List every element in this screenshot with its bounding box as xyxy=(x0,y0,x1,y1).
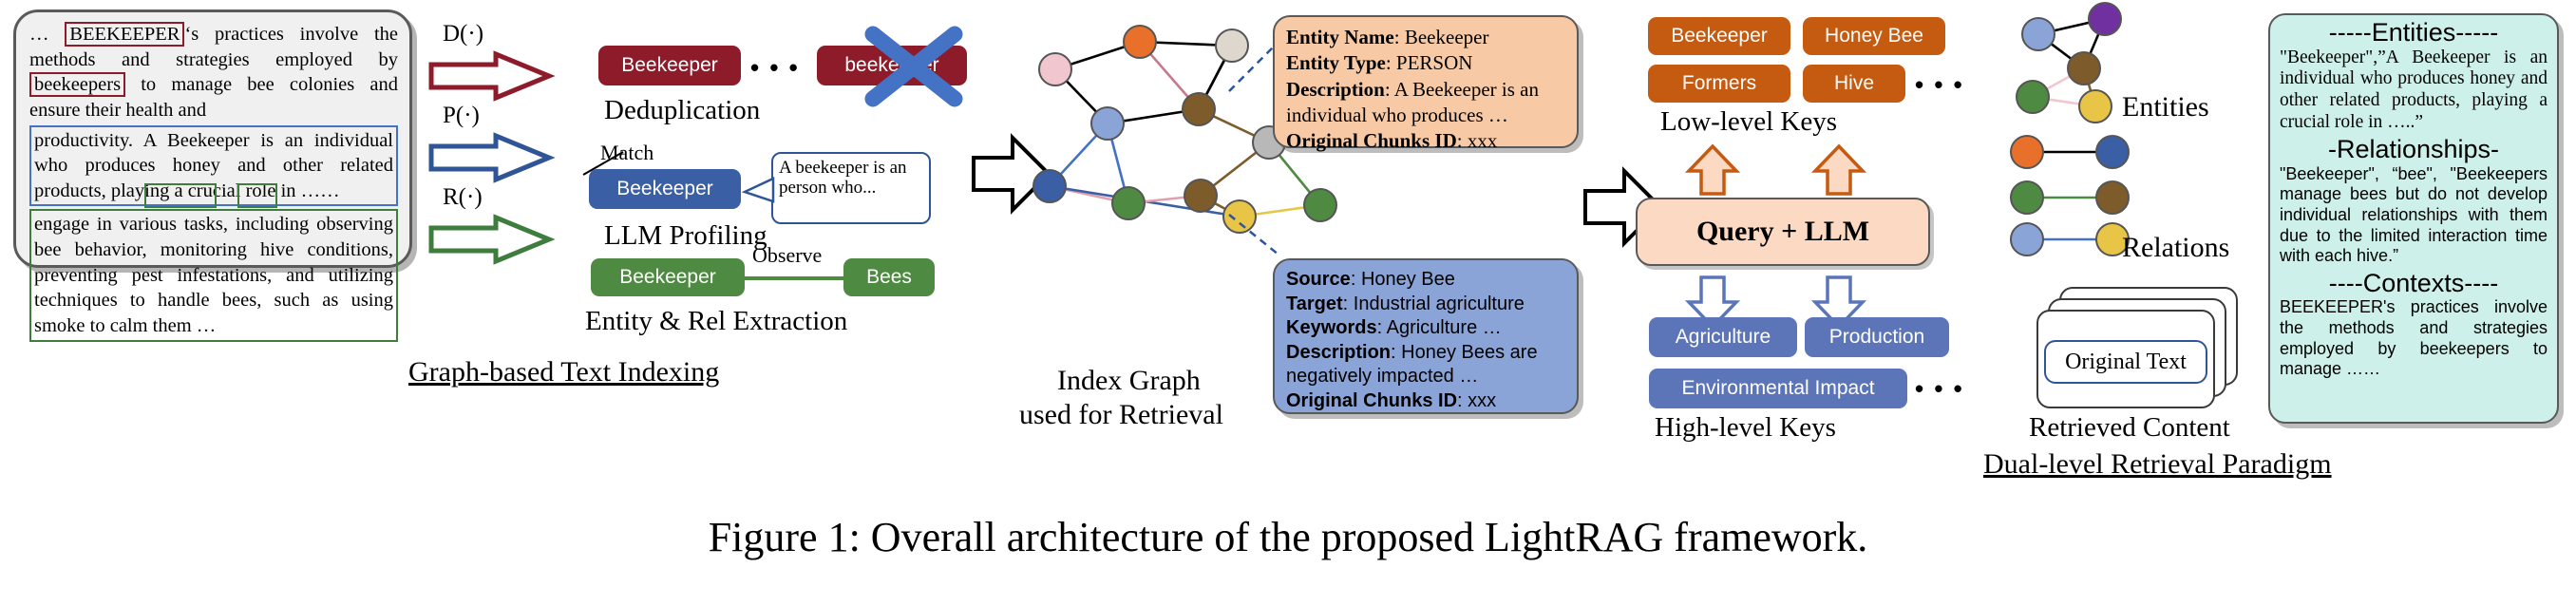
source-line-3-rest: to manage bee xyxy=(125,74,275,95)
index-graph-label-line2: used for Retrieval xyxy=(1019,399,1223,431)
entities-label: Entities xyxy=(2122,91,2209,123)
entities-section-body: "Beekeeper",”A Beekeeper is an individua… xyxy=(2280,47,2548,133)
relation-row-target: Target: Industrial agriculture xyxy=(1286,293,1565,317)
ellipsis-prefix: … xyxy=(29,24,65,45)
high-level-key-agriculture[interactable]: Agriculture xyxy=(1649,317,1797,357)
contexts-section-header: ----Contexts---- xyxy=(2280,270,2548,298)
llm-profiling-label: LLM Profiling xyxy=(604,220,767,252)
original-text-chip[interactable]: Original Text xyxy=(2044,340,2207,384)
graph-based-text-indexing-label: Graph-based Text Indexing xyxy=(408,356,719,388)
entity-name-key: Entity Name xyxy=(1286,26,1394,48)
low-level-key-formers[interactable]: Formers xyxy=(1648,65,1790,103)
relation-edge-icon xyxy=(745,274,843,283)
entity-name-value: Beekeeper xyxy=(1405,26,1489,48)
extraction-arrow-icon xyxy=(429,216,553,263)
generation-result-card: -----Entities----- "Beekeeper",”A Beekee… xyxy=(2268,13,2559,424)
relation-keywords-value: Agriculture … xyxy=(1387,317,1502,338)
relation-chunkid-value: xxx xyxy=(1468,390,1496,411)
low-level-key-hive[interactable]: Hive xyxy=(1803,65,1905,103)
low-level-up-arrow-icon-2 xyxy=(1812,144,1866,196)
dedup-arrow-icon xyxy=(429,52,553,100)
dedup-ellipsis: • • • xyxy=(750,53,800,83)
relation-row-chunkid: Original Chunks ID: xxx xyxy=(1286,389,1565,414)
profile-callout: A beekeeper is an person who... xyxy=(771,152,931,224)
highlight-beekeepers: beekeepers xyxy=(29,72,125,97)
highlight-observing-word xyxy=(144,183,217,208)
lightrag-architecture-figure: … BEEKEEPER‘s practices involve the meth… xyxy=(0,0,2576,606)
high-level-keys-label: High-level Keys xyxy=(1655,412,1836,444)
green-block-text: engage in various tasks, including obser… xyxy=(34,214,393,336)
entity-row-name: Entity Name: Beekeeper xyxy=(1286,25,1565,50)
highlight-beekeeper-caps: BEEKEEPER xyxy=(65,22,184,47)
low-level-keys-label: Low-level Keys xyxy=(1660,106,1837,138)
profiling-arrow-icon xyxy=(429,134,553,181)
profiling-pill: Beekeeper xyxy=(589,169,741,209)
entities-section-header: -----Entities----- xyxy=(2280,19,2548,47)
entity-schema-card: Entity Name: Beekeeper Entity Type: PERS… xyxy=(1273,15,1579,148)
relation-target-value: Industrial agriculture xyxy=(1354,294,1525,314)
low-level-key-honey-bee[interactable]: Honey Bee xyxy=(1803,17,1945,55)
retrieved-content-label: Retrieved Content xyxy=(2029,412,2230,444)
highlight-bee-word xyxy=(237,183,277,208)
dedup-function-label: D(·) xyxy=(443,21,483,47)
source-line-1-rest: ‘s practices involve xyxy=(184,24,358,45)
relationships-section-body: "Beekeeper", “bee", "Beekeepers manage b… xyxy=(2280,164,2548,267)
entity-chunkid-value: xxx xyxy=(1468,129,1498,152)
relation-schema-card: Source: Honey Bee Target: Industrial agr… xyxy=(1273,258,1579,414)
entity-type-value: PERSON xyxy=(1396,51,1473,74)
relation-source-key: Source xyxy=(1286,269,1351,290)
source-line-3-pre: by xyxy=(379,49,399,70)
relation-source-value: Honey Bee xyxy=(1361,269,1455,290)
relation-target-key: Target xyxy=(1286,294,1343,314)
relations-label: Relations xyxy=(2122,232,2229,264)
relation-keywords-key: Keywords xyxy=(1286,317,1377,338)
index-graph-label-line1: Index Graph xyxy=(1057,365,1201,397)
entity-row-description: Description: A Beekeeper is an individua… xyxy=(1286,77,1565,129)
low-level-keys-ellipsis: • • • xyxy=(1915,70,1964,100)
relation-chunkid-key: Original Chunks ID xyxy=(1286,390,1457,411)
highlight-green-relation-block: engage in various tasks, including obser… xyxy=(29,209,398,341)
high-level-key-production[interactable]: Production xyxy=(1805,317,1949,357)
profiling-function-label: P(·) xyxy=(443,103,480,129)
entity-chunkid-key: Original Chunks ID xyxy=(1286,129,1457,152)
cross-out-icon xyxy=(860,23,969,110)
callout-tail-icon xyxy=(743,177,777,205)
relation-description-key: Description xyxy=(1286,342,1391,363)
entity-rel-extraction-label: Entity & Rel Extraction xyxy=(585,306,847,337)
dual-level-retrieval-label: Dual-level Retrieval Paradigm xyxy=(1983,448,2332,481)
low-level-key-beekeeper[interactable]: Beekeeper xyxy=(1648,17,1790,55)
relation-row-source: Source: Honey Bee xyxy=(1286,268,1565,293)
relationships-section-header: -Relationships- xyxy=(2280,136,2548,164)
entity-row-type: Entity Type: PERSON xyxy=(1286,50,1565,76)
extraction-pill-right: Bees xyxy=(843,258,935,296)
entity-type-key: Entity Type xyxy=(1286,51,1386,74)
relation-row-description: Description: Honey Bees are negatively i… xyxy=(1286,341,1565,389)
entity-row-chunkid: Original Chunks ID: xxx xyxy=(1286,128,1565,154)
high-level-key-environmental-impact[interactable]: Environmental Impact xyxy=(1649,369,1907,408)
deduplication-label: Deduplication xyxy=(604,95,760,126)
extraction-function-label: R(·) xyxy=(443,184,483,211)
figure-caption: Figure 1: Overall architecture of the pr… xyxy=(0,513,2576,561)
low-level-up-arrow-icon xyxy=(1686,144,1739,196)
source-document-panel: … BEEKEEPER‘s practices involve the meth… xyxy=(13,9,412,268)
source-line-1: … BEEKEEPER‘s practices involve the meth… xyxy=(29,22,398,123)
extraction-pill-left: Beekeeper xyxy=(591,258,745,296)
entity-description-key: Description xyxy=(1286,78,1385,101)
relation-row-keywords: Keywords: Agriculture … xyxy=(1286,316,1565,341)
query-llm-box[interactable]: Query + LLM xyxy=(1636,198,1930,266)
dedup-pill-left: Beekeeper xyxy=(598,46,741,85)
high-level-keys-ellipsis: • • • xyxy=(1915,374,1964,404)
contexts-section-body: BEEKEEPER's practices involve the method… xyxy=(2280,297,2548,379)
relation-edge-label: Observe xyxy=(752,243,822,268)
